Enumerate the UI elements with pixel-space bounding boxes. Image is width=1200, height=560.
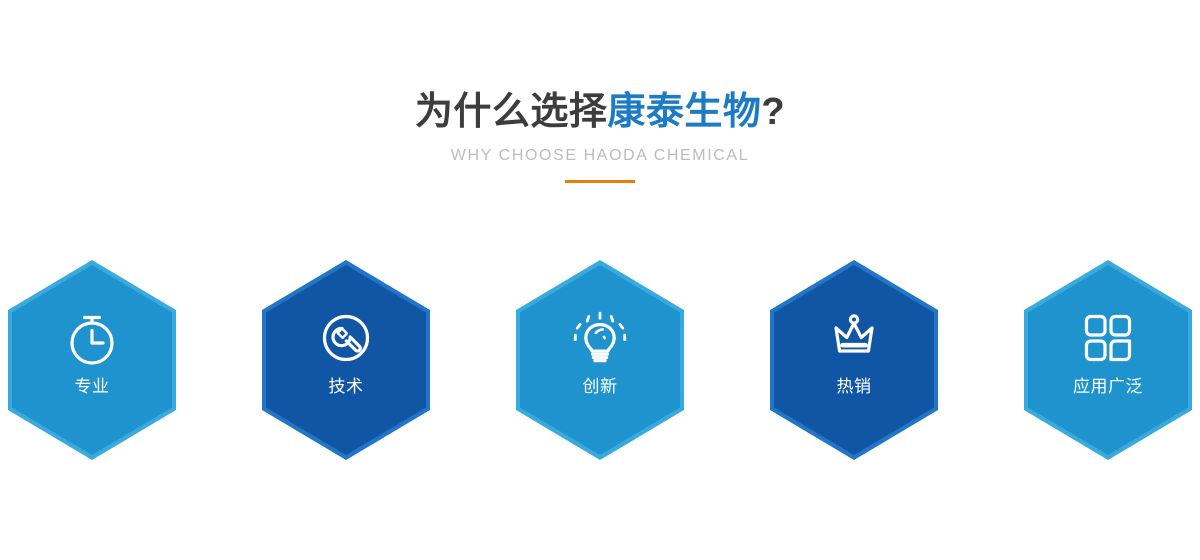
page-title-question-mark: ? — [761, 91, 785, 133]
wrench-circle-icon — [318, 260, 374, 366]
why-choose-us-section: 为什么选择康泰生物? WHY CHOOSE HAODA CHEMICAL 专业技… — [0, 0, 1200, 560]
feature-hexagon-1[interactable]: 专业 — [8, 260, 176, 460]
feature-hexagon-3[interactable]: 创新 — [516, 260, 684, 460]
feature-hexagon-2[interactable]: 技术 — [262, 260, 430, 460]
page-title: 为什么选择康泰生物? — [0, 86, 1200, 138]
hexagon-content: 专业 — [8, 260, 176, 460]
feature-hexagon-5[interactable]: 应用广泛 — [1024, 260, 1192, 460]
grid-squares-icon — [1080, 260, 1136, 366]
page-title-accent: 康泰生物 — [607, 91, 761, 133]
section-subtitle: WHY CHOOSE HAODA CHEMICAL — [0, 145, 1200, 167]
hexagon-content: 创新 — [516, 260, 684, 460]
hexagon-content: 热销 — [770, 260, 938, 460]
crown-icon — [826, 260, 882, 366]
hexagon-content: 技术 — [262, 260, 430, 460]
feature-label: 专业 — [75, 375, 110, 399]
page-title-prefix: 为什么选择 — [415, 91, 608, 133]
feature-hexagon-row: 专业技术创新热销应用广泛 — [0, 260, 1200, 460]
divider-wrapper — [0, 180, 1200, 183]
feature-label: 技术 — [329, 375, 364, 399]
lightbulb-icon — [572, 260, 628, 366]
stopwatch-icon — [64, 260, 120, 366]
feature-label: 应用广泛 — [1073, 375, 1143, 399]
feature-label: 创新 — [583, 375, 618, 399]
feature-hexagon-4[interactable]: 热销 — [770, 260, 938, 460]
section-header: 为什么选择康泰生物? WHY CHOOSE HAODA CHEMICAL — [0, 86, 1200, 183]
feature-label: 热销 — [837, 375, 872, 399]
accent-divider — [565, 180, 635, 183]
hexagon-content: 应用广泛 — [1024, 260, 1192, 460]
